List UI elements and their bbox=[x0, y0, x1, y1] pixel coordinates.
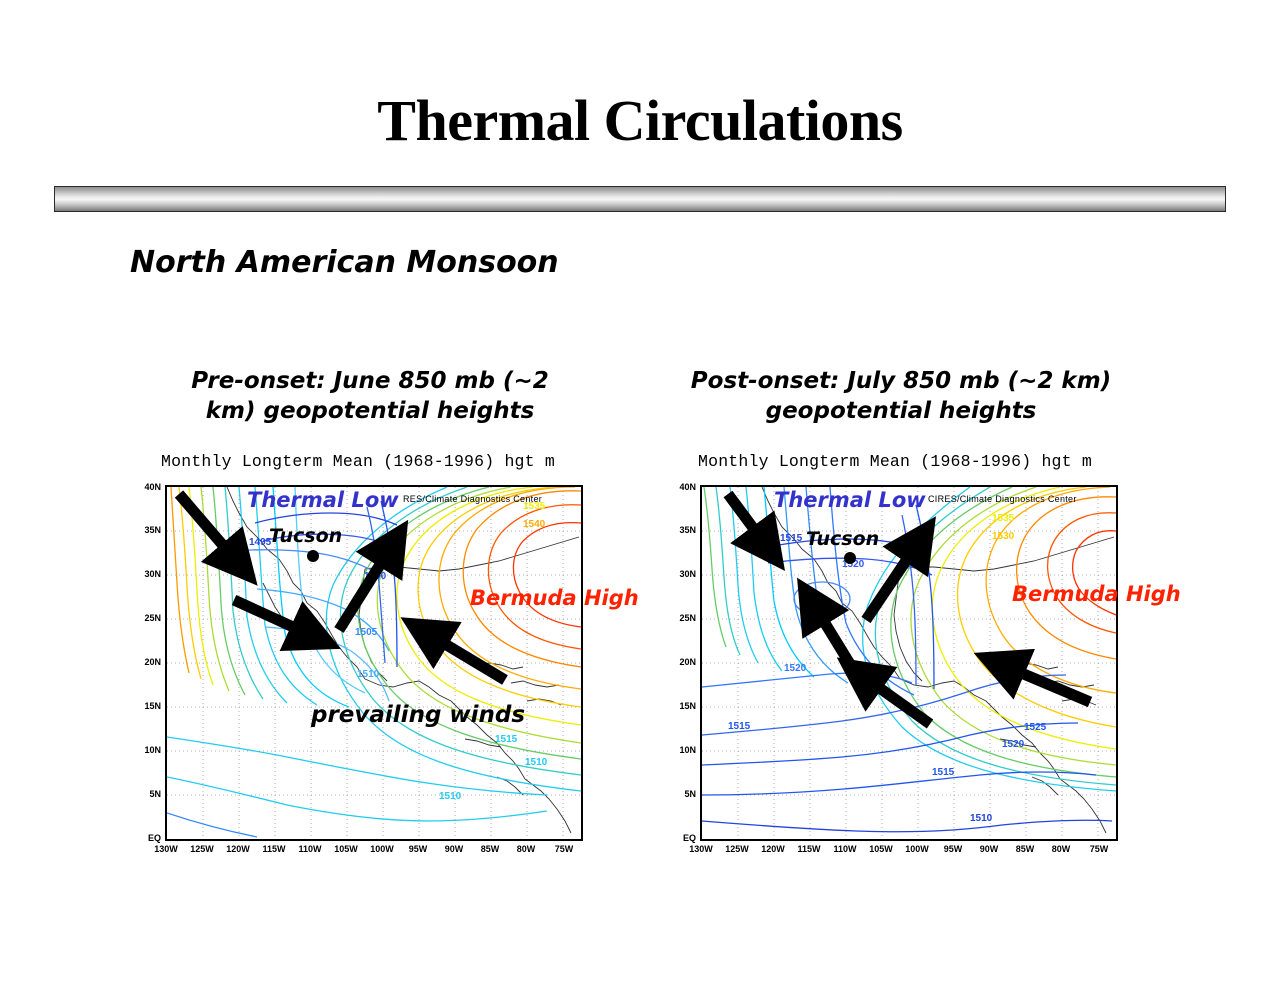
divider-bar bbox=[54, 186, 1226, 212]
y-tick-40n-right: 40N bbox=[670, 482, 696, 492]
svg-text:1535: 1535 bbox=[992, 513, 1015, 524]
page-title: Thermal Circulations bbox=[0, 88, 1280, 154]
annotation-bermuda-high-right: Bermuda High bbox=[1012, 582, 1181, 606]
y-tick-25n-right: 25N bbox=[670, 613, 696, 623]
x-tick-85w: 85W bbox=[473, 844, 507, 854]
x-tick-115w: 115W bbox=[257, 844, 291, 854]
svg-text:1510: 1510 bbox=[525, 757, 548, 768]
figure-pre-onset: Monthly Longterm Mean (1968-1996) hgt m … bbox=[135, 452, 585, 852]
x-tick-100w-right: 100W bbox=[900, 844, 934, 854]
y-tick-10n-right: 10N bbox=[670, 745, 696, 755]
svg-text:1520: 1520 bbox=[1002, 739, 1025, 750]
x-tick-100w: 100W bbox=[365, 844, 399, 854]
figure-credit-left: RES/Climate Diagnostics Center bbox=[403, 494, 542, 504]
annotation-tucson-left: Tucson bbox=[269, 525, 342, 547]
x-tick-105w: 105W bbox=[329, 844, 363, 854]
x-tick-130w-right: 130W bbox=[684, 844, 718, 854]
svg-text:1500: 1500 bbox=[364, 571, 387, 582]
svg-text:1515: 1515 bbox=[780, 533, 803, 544]
svg-text:1510: 1510 bbox=[970, 813, 993, 824]
figure-title-right: Monthly Longterm Mean (1968-1996) hgt m bbox=[698, 452, 1148, 471]
x-tick-75w-right: 75W bbox=[1082, 844, 1116, 854]
x-tick-95w: 95W bbox=[401, 844, 435, 854]
svg-text:1510: 1510 bbox=[357, 669, 380, 680]
x-tick-90w: 90W bbox=[437, 844, 471, 854]
x-tick-85w-right: 85W bbox=[1008, 844, 1042, 854]
y-tick-5n-right: 5N bbox=[670, 789, 696, 799]
svg-text:1515: 1515 bbox=[728, 721, 751, 732]
contour-plot-right: 1515 1520 1520 1515 1525 1520 1515 1510 … bbox=[700, 485, 1118, 841]
x-tick-110w: 110W bbox=[293, 844, 327, 854]
tucson-marker-right bbox=[844, 552, 856, 564]
contour-plot-left: 1495 1500 1505 1510 1515 1510 1510 1535 … bbox=[165, 485, 583, 841]
y-tick-40n: 40N bbox=[135, 482, 161, 492]
y-tick-25n: 25N bbox=[135, 613, 161, 623]
figure-credit-right: CIRES/Climate Diagnostics Center bbox=[928, 494, 1077, 504]
figure-post-onset: Monthly Longterm Mean (1968-1996) hgt m … bbox=[670, 452, 1120, 852]
annotation-thermal-low-right: Thermal Low bbox=[774, 488, 926, 512]
y-tick-35n-right: 35N bbox=[670, 525, 696, 535]
svg-text:1520: 1520 bbox=[784, 663, 807, 674]
x-tick-130w: 130W bbox=[149, 844, 183, 854]
svg-text:1510: 1510 bbox=[439, 791, 462, 802]
x-tick-90w-right: 90W bbox=[972, 844, 1006, 854]
panel-caption-left: Pre-onset: June 850 mb (~2 km) geopotent… bbox=[170, 366, 570, 426]
svg-text:1540: 1540 bbox=[523, 519, 546, 530]
tucson-marker-left bbox=[307, 550, 319, 562]
svg-text:1530: 1530 bbox=[992, 531, 1015, 542]
x-tick-110w-right: 110W bbox=[828, 844, 862, 854]
x-tick-95w-right: 95W bbox=[936, 844, 970, 854]
y-tick-20n: 20N bbox=[135, 657, 161, 667]
x-tick-105w-right: 105W bbox=[864, 844, 898, 854]
x-tick-80w: 80W bbox=[509, 844, 543, 854]
y-tick-15n: 15N bbox=[135, 701, 161, 711]
y-tick-30n: 30N bbox=[135, 569, 161, 579]
figure-title-left: Monthly Longterm Mean (1968-1996) hgt m bbox=[161, 452, 611, 471]
x-tick-115w-right: 115W bbox=[792, 844, 826, 854]
y-tick-20n-right: 20N bbox=[670, 657, 696, 667]
y-tick-5n: 5N bbox=[135, 789, 161, 799]
y-tick-10n: 10N bbox=[135, 745, 161, 755]
y-tick-eq: EQ bbox=[135, 833, 161, 843]
annotation-bermuda-high-left: Bermuda High bbox=[470, 586, 639, 610]
svg-text:1505: 1505 bbox=[355, 627, 378, 638]
x-tick-125w-right: 125W bbox=[720, 844, 754, 854]
annotation-prevailing-winds: prevailing winds bbox=[311, 702, 525, 728]
y-tick-eq-right: EQ bbox=[670, 833, 696, 843]
x-tick-75w: 75W bbox=[547, 844, 581, 854]
svg-text:1515: 1515 bbox=[495, 734, 518, 745]
x-tick-80w-right: 80W bbox=[1044, 844, 1078, 854]
y-tick-15n-right: 15N bbox=[670, 701, 696, 711]
y-tick-35n: 35N bbox=[135, 525, 161, 535]
svg-text:1525: 1525 bbox=[1024, 722, 1047, 733]
x-tick-120w: 120W bbox=[221, 844, 255, 854]
x-tick-125w: 125W bbox=[185, 844, 219, 854]
panel-caption-right: Post-onset: July 850 mb (~2 km) geopoten… bbox=[686, 366, 1116, 426]
section-subtitle: North American Monsoon bbox=[130, 245, 559, 280]
annotation-thermal-low-left: Thermal Low bbox=[247, 488, 399, 512]
y-tick-30n-right: 30N bbox=[670, 569, 696, 579]
svg-text:1515: 1515 bbox=[932, 767, 955, 778]
annotation-tucson-right: Tucson bbox=[806, 528, 879, 550]
x-tick-120w-right: 120W bbox=[756, 844, 790, 854]
